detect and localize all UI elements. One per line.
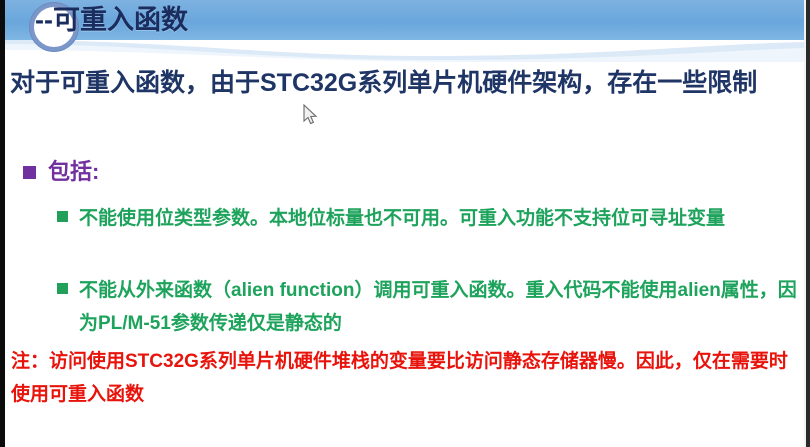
window-right-edge <box>806 0 810 447</box>
bullet-level2-label: 不能使用位类型参数。本地位标量也不可用。可重入功能不支持位可寻址变量 <box>79 202 725 235</box>
slide-title: --可重入函数 <box>35 0 188 37</box>
bullet-level2-item-1: 不能使用位类型参数。本地位标量也不可用。可重入功能不支持位可寻址变量 <box>57 202 809 235</box>
bullet-level1-label: 包括: <box>48 157 99 187</box>
window-left-edge <box>0 0 5 447</box>
bullet-level2-item-2: 不能从外来函数（alien function）调用可重入函数。重入代码不能使用a… <box>57 274 809 340</box>
lead-paragraph: 对于可重入函数，由于STC32G系列单片机硬件架构，存在一些限制 <box>10 64 802 102</box>
mouse-cursor-icon <box>303 104 319 128</box>
square-bullet-icon <box>57 211 68 222</box>
slide-header-banner: --可重入函数 <box>5 0 806 62</box>
bullet-level1: 包括: <box>23 157 99 187</box>
bullet-level2-label: 不能从外来函数（alien function）调用可重入函数。重入代码不能使用a… <box>79 274 809 340</box>
slide-body: 对于可重入函数，由于STC32G系列单片机硬件架构，存在一些限制 包括: 不能使… <box>5 62 806 447</box>
note-paragraph: 注：访问使用STC32G系列单片机硬件堆栈的变量要比访问静态存储器慢。因此，仅在… <box>11 345 801 411</box>
presentation-slide: --可重入函数 对于可重入函数，由于STC32G系列单片机硬件架构，存在一些限制… <box>0 0 810 447</box>
square-bullet-icon <box>23 166 36 179</box>
square-bullet-icon <box>57 283 68 294</box>
